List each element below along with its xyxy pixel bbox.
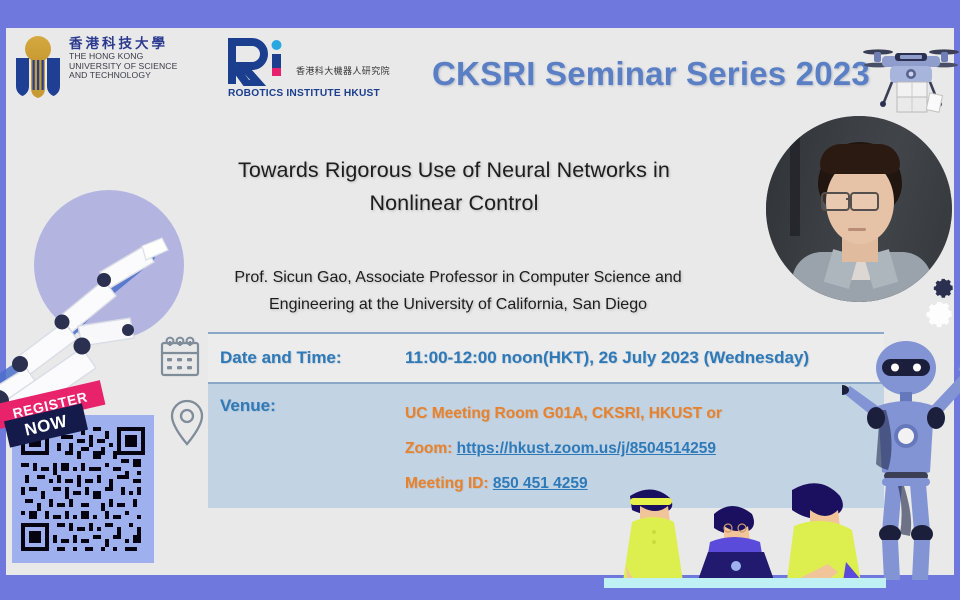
robotics-institute-logo: 香港科大機器人研究院 ROBOTICS INSTITUTE HKUST <box>228 38 390 99</box>
seminar-poster: 香港科技大學 THE HONG KONG UNIVERSITY OF SCIEN… <box>0 0 960 600</box>
zoom-link[interactable]: https://hkust.zoom.us/j/8504514259 <box>457 440 716 457</box>
meeting-id-label: Meeting ID: <box>405 475 489 492</box>
top-purple-band <box>0 0 960 28</box>
venue-location-text: UC Meeting Room G01A, CKSRI, HKUST or <box>405 405 722 422</box>
hkust-logo-line3: AND TECHNOLOGY <box>69 71 177 81</box>
ri-logo-chinese: 香港科大機器人研究院 <box>296 64 390 77</box>
hkust-emblem-icon <box>14 36 62 98</box>
speaker-line2: Engineering at the University of Califor… <box>178 291 738 318</box>
date-time-row: Date and Time: 11:00-12:00 noon(HKT), 26… <box>208 332 884 384</box>
delivery-drone-icon <box>862 30 960 120</box>
zoom-label: Zoom: <box>405 440 452 457</box>
date-time-value: 11:00-12:00 noon(HKT), 26 July 2023 (Wed… <box>405 348 809 368</box>
seminar-title-line2: Nonlinear Control <box>178 187 730 220</box>
series-title: CKSRI Seminar Series 2023 <box>432 55 872 93</box>
hkust-logo: 香港科技大學 THE HONG KONG UNIVERSITY OF SCIEN… <box>14 36 177 98</box>
gear-icon-dark <box>932 278 954 300</box>
people-illustration <box>596 466 896 588</box>
ri-logo-subtitle: ROBOTICS INSTITUTE HKUST <box>228 88 390 99</box>
seminar-title-line1: Towards Rigorous Use of Neural Networks … <box>178 154 730 187</box>
ri-mark-icon <box>228 38 286 86</box>
venue-value: UC Meeting Room G01A, CKSRI, HKUST or <box>405 396 722 431</box>
speaker-info: Prof. Sicun Gao, Associate Professor in … <box>178 264 738 318</box>
zoom-line: Zoom: https://hkust.zoom.us/j/8504514259 <box>405 431 722 466</box>
robot-arm-icon <box>0 198 182 408</box>
hkust-logo-chinese: 香港科技大學 <box>69 37 177 52</box>
venue-label: Venue: <box>208 396 405 416</box>
speaker-line1: Prof. Sicun Gao, Associate Professor in … <box>178 264 738 291</box>
meeting-id-value: 850 451 4259 <box>493 475 588 492</box>
date-time-label: Date and Time: <box>208 348 405 368</box>
speaker-portrait <box>766 116 952 302</box>
page-title: Towards Rigorous Use of Neural Networks … <box>178 154 730 220</box>
